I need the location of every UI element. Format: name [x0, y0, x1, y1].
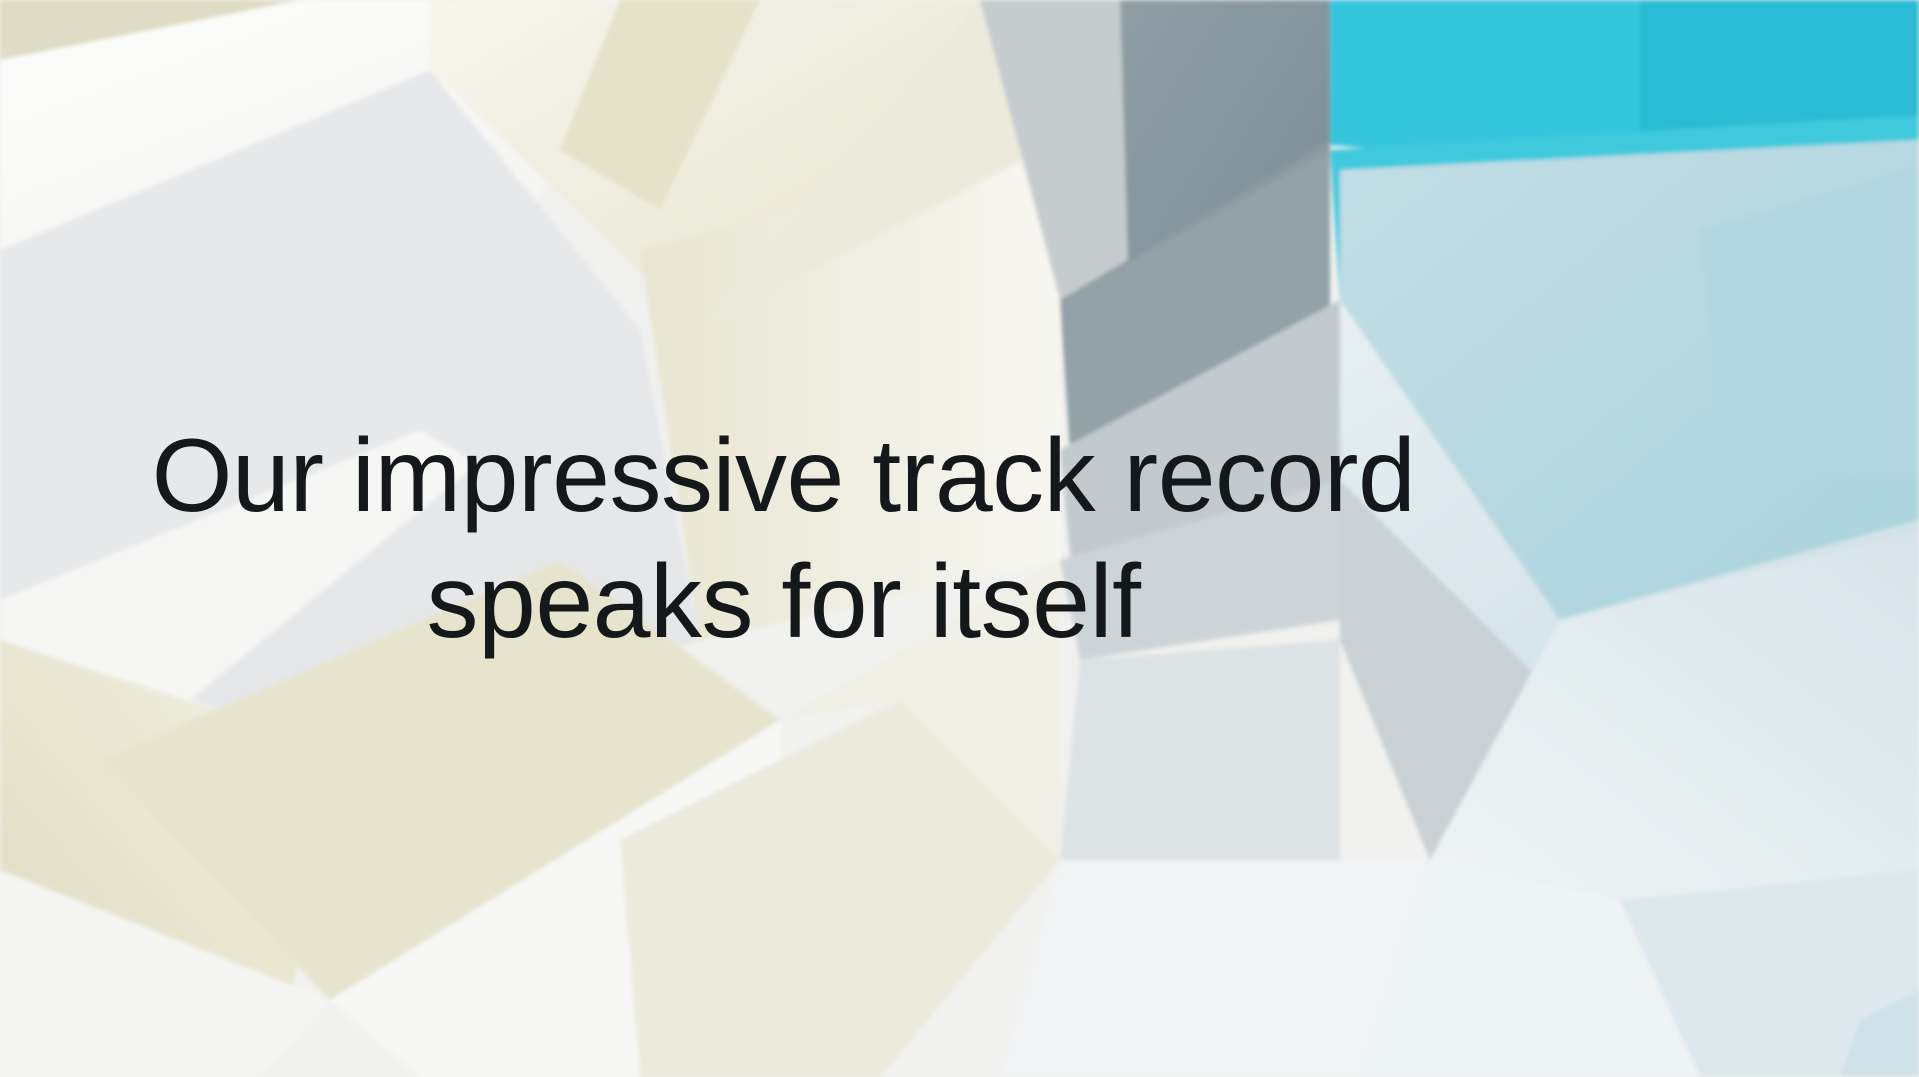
title-slide: Our impressive track record speaks for i… [0, 0, 1919, 1077]
isometric-cube-background [0, 0, 1919, 1077]
facet-white-bottom-right [1000, 860, 1430, 1077]
facet-gray-bottom-right-edge [1060, 640, 1340, 860]
